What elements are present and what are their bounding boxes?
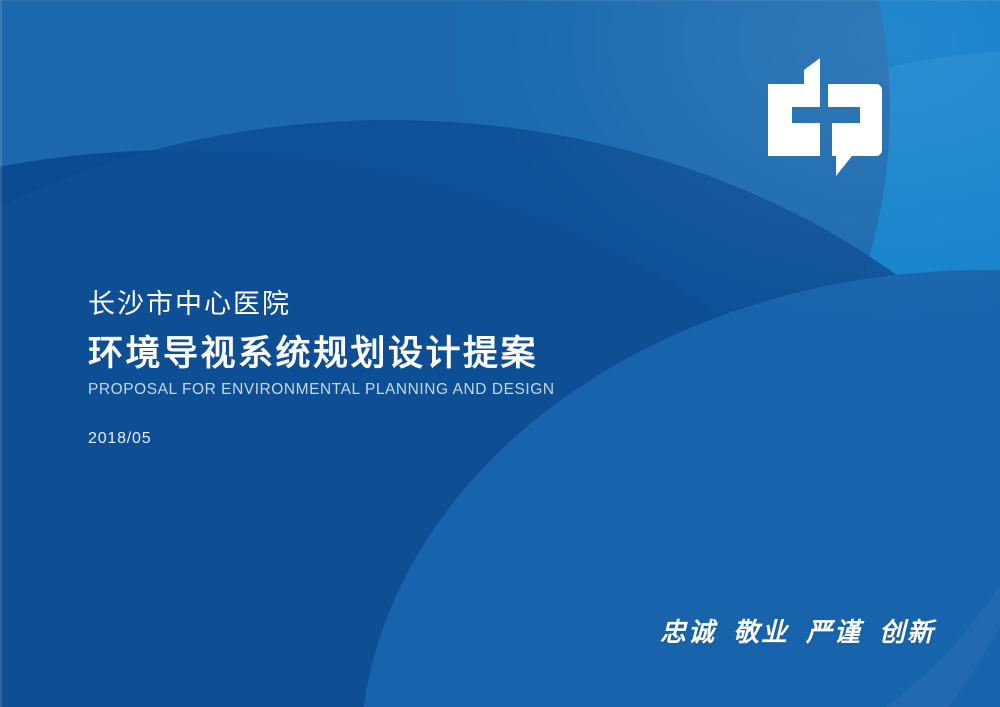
date-label: 2018/05 xyxy=(88,430,151,448)
slogan: 忠诚敬业严谨创新 xyxy=(660,612,960,649)
slogan-word-3: 严谨 xyxy=(806,618,862,648)
hospital-logo-icon xyxy=(764,58,888,176)
slogan-word-4: 创新 xyxy=(879,618,935,648)
slogan-word-1: 忠诚 xyxy=(660,618,716,648)
title-block: 长沙市中心医院 环境导视系统规划设计提案 PROPOSAL FOR ENVIRO… xyxy=(88,288,728,400)
page-title: 环境导视系统规划设计提案 xyxy=(88,332,728,377)
cover-slide: 长沙市中心医院 环境导视系统规划设计提案 PROPOSAL FOR ENVIRO… xyxy=(0,0,1000,707)
slogan-word-2: 敬业 xyxy=(733,618,789,648)
subtitle-english: PROPOSAL FOR ENVIRONMENTAL PLANNING AND … xyxy=(88,380,728,401)
organization-name: 长沙市中心医院 xyxy=(88,288,728,322)
